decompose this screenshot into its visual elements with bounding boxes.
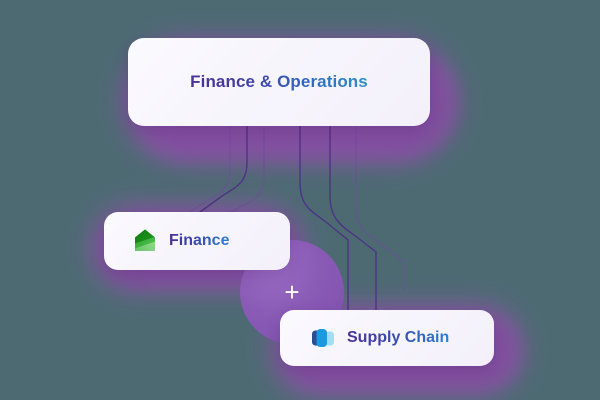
diagram-canvas: + Finance & Operations [0, 0, 600, 400]
plus-icon: + [284, 279, 299, 305]
page-title: Finance & Operations [190, 72, 368, 92]
dynamics-finance-icon [132, 228, 158, 254]
card-supply-chain[interactable]: Supply Chain [280, 310, 494, 366]
card-finance-and-operations[interactable]: Finance & Operations [128, 38, 430, 126]
card-finance[interactable]: Finance [104, 212, 290, 270]
card-supply-chain-label: Supply Chain [347, 329, 449, 347]
dynamics-supply-chain-icon [310, 325, 336, 351]
card-finance-label: Finance [169, 232, 229, 250]
